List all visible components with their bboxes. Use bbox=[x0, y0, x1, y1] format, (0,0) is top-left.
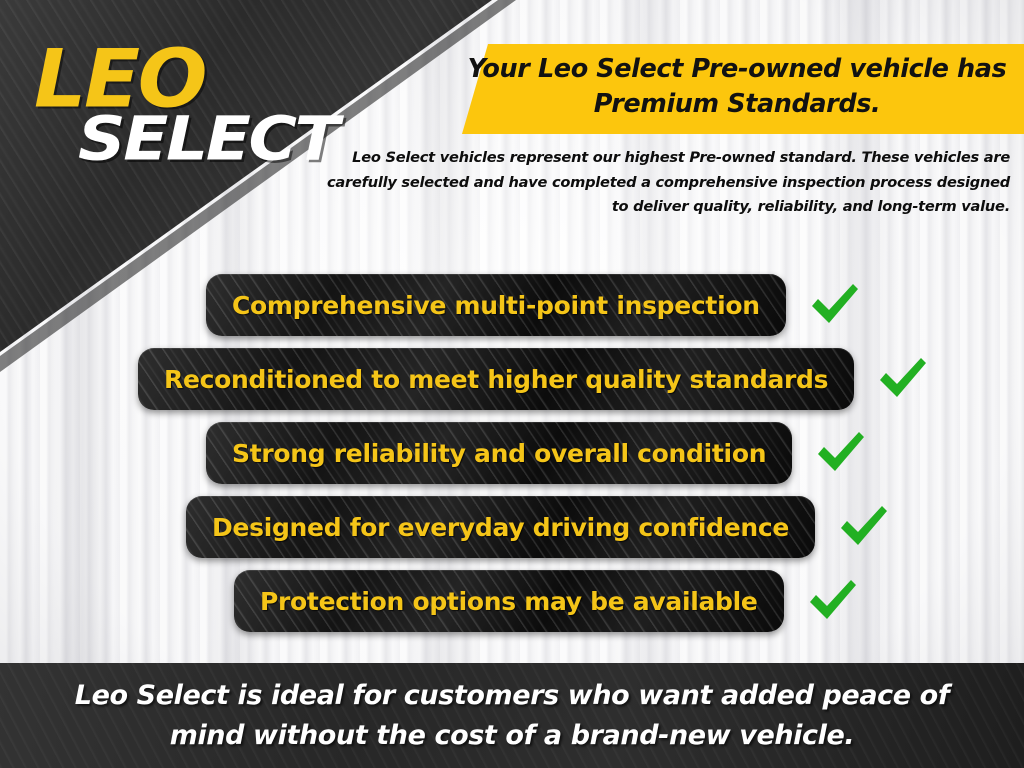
headline-text: Your Leo Select Pre-owned vehicle has Pr… bbox=[456, 52, 1018, 122]
feature-pill: Protection options may be available bbox=[234, 570, 784, 632]
check-icon bbox=[837, 502, 891, 552]
description-paragraph: Leo Select vehicles represent our highes… bbox=[310, 146, 1010, 220]
footer-text: Leo Select is ideal for customers who wa… bbox=[62, 676, 962, 754]
feature-label: Designed for everyday driving confidence bbox=[212, 513, 789, 542]
check-icon bbox=[806, 576, 860, 626]
feature-row: Comprehensive multi-point inspection bbox=[206, 272, 862, 338]
feature-row: Protection options may be available bbox=[234, 568, 860, 634]
feature-label: Strong reliability and overall condition bbox=[232, 439, 766, 468]
footer-banner: Leo Select is ideal for customers who wa… bbox=[0, 663, 1024, 768]
feature-pill: Reconditioned to meet higher quality sta… bbox=[138, 348, 854, 410]
feature-pill: Strong reliability and overall condition bbox=[206, 422, 792, 484]
check-icon bbox=[808, 280, 862, 330]
feature-row: Reconditioned to meet higher quality sta… bbox=[138, 346, 930, 412]
feature-pill: Designed for everyday driving confidence bbox=[186, 496, 815, 558]
feature-list: Comprehensive multi-point inspection Rec… bbox=[0, 268, 1024, 648]
logo-text-select: SELECT bbox=[78, 110, 337, 170]
feature-row: Strong reliability and overall condition bbox=[206, 420, 868, 486]
check-icon bbox=[814, 428, 868, 478]
feature-row: Designed for everyday driving confidence bbox=[186, 494, 891, 560]
leo-select-logo: LEO SELECT bbox=[34, 38, 334, 163]
feature-label: Comprehensive multi-point inspection bbox=[232, 291, 760, 320]
leo-select-poster: LEO SELECT Your Leo Select Pre-owned veh… bbox=[0, 0, 1024, 768]
feature-pill: Comprehensive multi-point inspection bbox=[206, 274, 786, 336]
feature-label: Protection options may be available bbox=[260, 587, 758, 616]
feature-label: Reconditioned to meet higher quality sta… bbox=[164, 365, 828, 394]
check-icon bbox=[876, 354, 930, 404]
